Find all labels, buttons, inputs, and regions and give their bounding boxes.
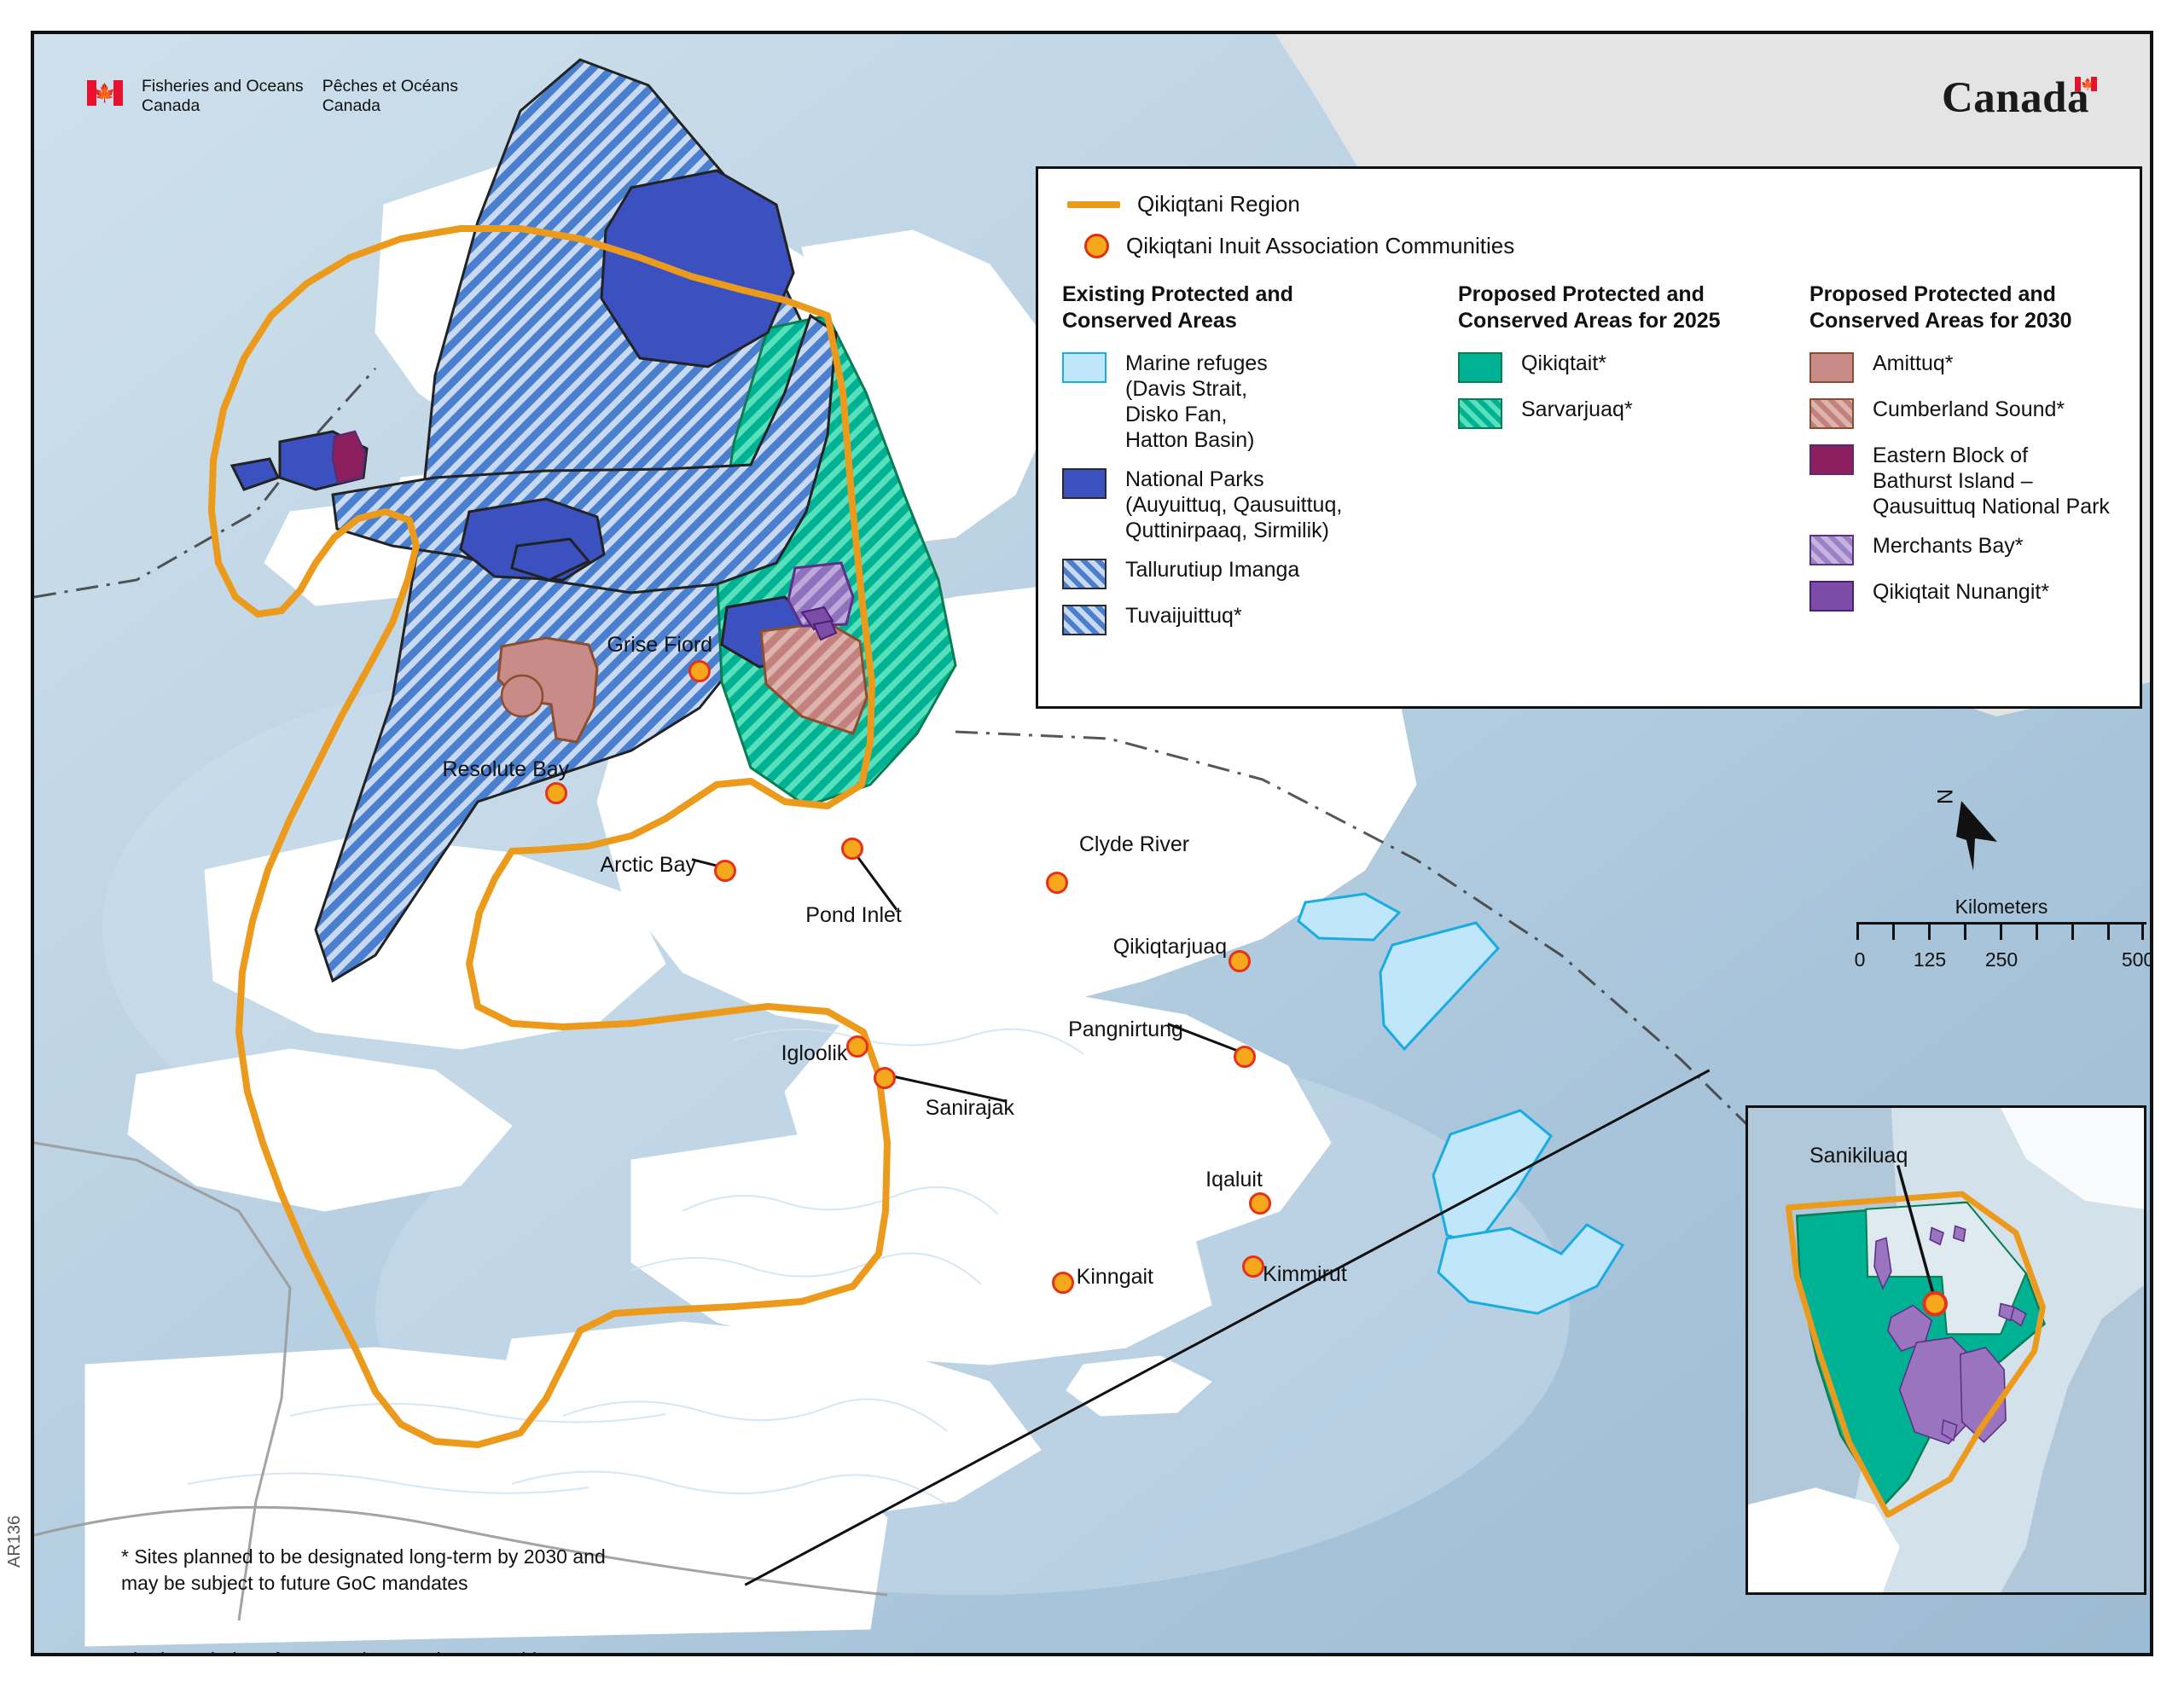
north-arrow: N [1941, 789, 2018, 883]
sheet-id: AR136 [5, 1516, 25, 1568]
legend-item-label: Qikiqtait* [1521, 351, 1606, 376]
map-page: 🍁 Fisheries and Oceans Canada Pêches et … [0, 0, 2184, 1687]
legend-item: Qikiqtait Nunangit* [1809, 579, 2134, 612]
legend-column-heading: Proposed Protected and Conserved Areas f… [1809, 281, 2134, 333]
legend-item: National Parks (Auyuittuq, Qausuittuq, Q… [1062, 467, 1420, 543]
scalebar-labels: 0 125 250 500 [1856, 948, 2146, 974]
community-dot-pangnirtung[interactable] [1234, 1046, 1256, 1068]
legend-item-label: Cumberland Sound* [1873, 397, 2065, 422]
legend-item-label: Amittuq* [1873, 351, 1953, 376]
community-dot-swatch [1084, 234, 1109, 258]
signature-en: Fisheries and Oceans Canada [142, 77, 304, 116]
legend-column-1: Existing Protected and Conserved AreasMa… [1062, 281, 1420, 649]
place-label-resolute-bay: Resolute Bay [442, 757, 569, 782]
legend-swatch [1809, 398, 1854, 429]
legend-item: Merchants Bay* [1809, 533, 2134, 565]
place-label-arctic-bay: Arctic Bay [600, 853, 696, 878]
place-label-iqaluit: Iqaluit [1205, 1168, 1263, 1192]
legend-swatch [1458, 352, 1502, 383]
legend-item: Cumberland Sound* [1809, 397, 2134, 429]
map-frame: 🍁 Fisheries and Oceans Canada Pêches et … [31, 31, 2153, 1656]
place-label-pangnirtung: Pangnirtung [1068, 1017, 1183, 1042]
legend-item: Qikiqtait* [1458, 351, 1772, 383]
legend-swatch [1062, 605, 1107, 635]
legend-column-2: Proposed Protected and Conserved Areas f… [1458, 281, 1772, 649]
footnote-line-2: The boundaries of proposed areas shown o… [121, 1647, 606, 1656]
inset-community-label: Sanikiluaq [1809, 1144, 1908, 1168]
legend-communities-row: Qikiqtani Inuit Association Communities [1067, 233, 2140, 259]
place-label-igloolik: Igloolik [781, 1041, 848, 1066]
north-label: N [1931, 789, 1956, 804]
community-dot-pond-inlet[interactable] [841, 838, 863, 860]
canada-flag-icon: 🍁 [87, 80, 123, 106]
legend-swatch [1809, 444, 1854, 475]
legend-item: Tuvaijuittuq* [1062, 603, 1420, 635]
canada-wordmark-text: Canada [1942, 73, 2089, 123]
map-legend: Qikiqtani Region Qikiqtani Inuit Associa… [1036, 166, 2142, 709]
community-dot-kimmirut[interactable] [1242, 1255, 1264, 1278]
inset-map-sanikiluaq: Sanikiluaq [1745, 1105, 2146, 1595]
place-label-kimmirut: Kimmirut [1263, 1262, 1347, 1287]
qikiqtani-region-boundary [212, 229, 887, 1445]
legend-item-label: Merchants Bay* [1873, 533, 2023, 559]
legend-swatch [1458, 398, 1502, 429]
region-line-label: Qikiqtani Region [1137, 191, 1300, 217]
place-label-clyde-river: Clyde River [1079, 832, 1189, 857]
legend-item-label: Marine refuges (Davis Strait, Disko Fan,… [1125, 351, 1268, 453]
community-dot-sanirajak[interactable] [874, 1067, 896, 1089]
scale-bar: Kilometers 0 125 250 500 [1856, 896, 2146, 974]
legend-column-heading: Existing Protected and Conserved Areas [1062, 281, 1420, 333]
legend-swatch [1809, 581, 1854, 612]
legend-swatch [1062, 468, 1107, 499]
scalebar-units: Kilometers [1856, 896, 2146, 919]
legend-item-label: Tuvaijuittuq* [1125, 603, 1242, 629]
place-label-pond-inlet: Pond Inlet [805, 903, 902, 928]
legend-swatch [1809, 352, 1854, 383]
communities-label: Qikiqtani Inuit Association Communities [1126, 233, 1514, 259]
legend-item: Marine refuges (Davis Strait, Disko Fan,… [1062, 351, 1420, 453]
scalebar-tick-250: 250 [1985, 948, 2018, 971]
inset-community-dot [1924, 1293, 1946, 1315]
place-label-sanirajak: Sanirajak [926, 1096, 1014, 1121]
legend-item: Tallurutiup Imanga [1062, 557, 1420, 589]
legend-item: Sarvarjuaq* [1458, 397, 1772, 429]
legend-item-label: National Parks (Auyuittuq, Qausuittuq, Q… [1125, 467, 1342, 543]
inset-basemap [1748, 1108, 2144, 1592]
place-label-kinngait: Kinngait [1077, 1265, 1153, 1290]
legend-item: Amittuq* [1809, 351, 2134, 383]
scalebar-track [1856, 922, 2146, 947]
gov-signature: 🍁 Fisheries and Oceans Canada Pêches et … [87, 77, 458, 116]
community-dot-kinngait[interactable] [1052, 1272, 1074, 1294]
legend-region-line-row: Qikiqtani Region [1067, 191, 2140, 217]
scalebar-tick-500: 500 [2122, 948, 2153, 971]
place-label-grise-fiord: Grise Fiord [607, 633, 712, 658]
region-line-swatch [1067, 201, 1120, 208]
map-footnote: * Sites planned to be designated long-te… [121, 1518, 606, 1656]
footnote-line-1: * Sites planned to be designated long-te… [121, 1544, 606, 1596]
canada-wordmark: Canada 🍁 [1942, 73, 2097, 123]
legend-column-3: Proposed Protected and Conserved Areas f… [1809, 281, 2134, 649]
community-dot-arctic-bay[interactable] [714, 860, 736, 882]
legend-item-label: Eastern Block of Bathurst Island – Qausu… [1873, 443, 2110, 519]
legend-swatch [1062, 352, 1107, 383]
scalebar-tick-125: 125 [1914, 948, 1946, 971]
community-dot-qikiqtarjuaq[interactable] [1228, 950, 1251, 972]
place-label-qikiqtarjuaq: Qikiqtarjuaq [1113, 935, 1227, 959]
legend-item-label: Sarvarjuaq* [1521, 397, 1633, 422]
legend-item-label: Tallurutiup Imanga [1125, 557, 1299, 583]
legend-swatch [1062, 559, 1107, 589]
wordmark-flag-icon: 🍁 [2075, 77, 2097, 91]
legend-columns: Existing Protected and Conserved AreasMa… [1038, 275, 2140, 649]
legend-swatch [1809, 535, 1854, 565]
legend-column-heading: Proposed Protected and Conserved Areas f… [1458, 281, 1772, 333]
signature-fr: Pêches et Océans Canada [322, 77, 458, 116]
legend-item: Eastern Block of Bathurst Island – Qausu… [1809, 443, 2134, 519]
legend-item-label: Qikiqtait Nunangit* [1873, 579, 2049, 605]
scalebar-tick-0: 0 [1855, 948, 1866, 971]
